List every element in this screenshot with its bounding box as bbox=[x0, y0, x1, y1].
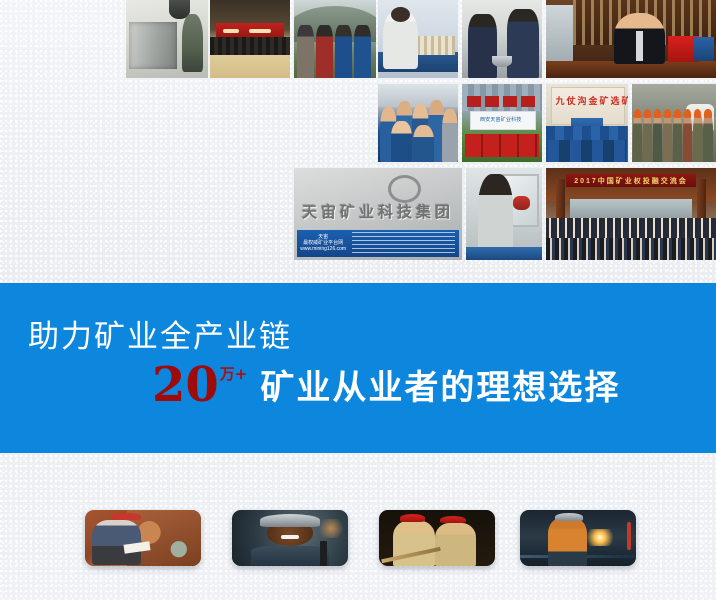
thumb-two-miners[interactable] bbox=[379, 510, 495, 566]
thumb-geologist[interactable] bbox=[85, 510, 201, 566]
thumb-miner[interactable] bbox=[232, 510, 348, 566]
page-root: 西安天宙矿业科技 九仗沟金矿选矿 天宙矿业科技集团 天 bbox=[0, 0, 716, 600]
thumb-welder[interactable] bbox=[520, 510, 636, 566]
bottom-thumb-strip bbox=[0, 0, 716, 600]
